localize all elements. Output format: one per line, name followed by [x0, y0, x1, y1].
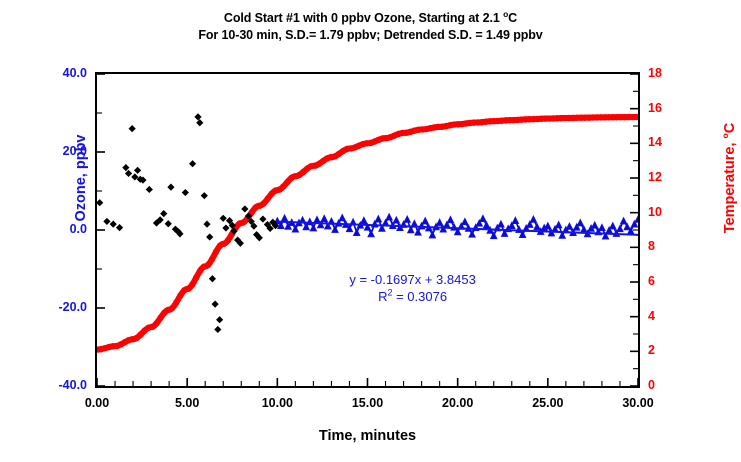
temperature-marker — [225, 237, 231, 243]
y-left-tick-label-1: 20.0 — [25, 144, 87, 158]
x-tick-label-1: 5.00 — [157, 396, 217, 410]
ozone-early-marker — [165, 220, 172, 227]
y-right-tick-label-6: 6 — [648, 274, 688, 288]
ozone-late-marker — [544, 222, 551, 229]
y-left-tick-label-4: -40.0 — [25, 378, 87, 392]
ozone-early-marker — [146, 186, 153, 193]
y-right-tick-label-4: 10 — [648, 205, 688, 219]
r2-value: = 0.3076 — [392, 289, 447, 304]
y-right-unit: C — [722, 123, 738, 133]
temperature-marker — [169, 305, 175, 311]
ozone-late-marker — [480, 215, 487, 222]
ozone-late-marker — [447, 216, 454, 223]
temperature-marker — [177, 292, 183, 298]
ozone-late-marker — [436, 219, 443, 226]
chart-title-line-1: Cold Start #1 with 0 ppbv Ozone, Startin… — [0, 10, 741, 27]
y-right-tick-label-3: 12 — [648, 170, 688, 184]
y-axis-left-label: Ozone, ppbv — [73, 93, 89, 263]
temperature-marker — [189, 281, 195, 287]
x-tick-label-5: 25.00 — [518, 396, 578, 410]
ozone-late-marker — [386, 213, 393, 220]
ozone-late-marker — [375, 215, 382, 222]
ozone-late-marker — [512, 217, 519, 224]
y-axis-right-label: Temperature, oC — [722, 88, 738, 268]
chart-title: Cold Start #1 with 0 ppbv Ozone, Startin… — [0, 10, 741, 44]
ozone-late-marker — [620, 217, 627, 224]
y-right-tick-label-7: 4 — [648, 309, 688, 323]
y-right-tick-label-9: 0 — [648, 378, 688, 392]
ozone-late-marker — [581, 226, 588, 233]
y-left-tick-label-3: -20.0 — [25, 300, 87, 314]
chart-figure: Cold Start #1 with 0 ppbv Ozone, Startin… — [0, 0, 741, 462]
x-tick-label-3: 15.00 — [338, 396, 398, 410]
ozone-late-marker — [339, 214, 346, 221]
temperature-marker — [209, 256, 215, 262]
ozone-early-marker — [194, 113, 201, 120]
temperature-marker — [205, 262, 211, 268]
y-left-tick-label-0: 40.0 — [25, 66, 87, 80]
ozone-late-marker — [422, 217, 429, 224]
ozone-late-marker — [429, 231, 436, 238]
ozone-late-marker — [635, 216, 638, 223]
ozone-early-marker — [201, 192, 208, 199]
ozone-late-marker — [599, 224, 606, 231]
ozone-late-marker — [516, 226, 523, 233]
y-right-tick-label-5: 8 — [648, 239, 688, 253]
ozone-late-marker — [577, 219, 584, 226]
plot-area — [95, 72, 640, 388]
ozone-late-marker — [461, 218, 468, 225]
ozone-early-marker — [189, 160, 196, 167]
ozone-late-marker — [617, 225, 624, 232]
ozone-early-marker — [167, 184, 174, 191]
temperature-marker — [153, 320, 159, 326]
ozone-late-marker — [498, 220, 505, 227]
y-right-tick-label-2: 14 — [648, 135, 688, 149]
title-text-1b: C — [508, 11, 517, 25]
ozone-early-marker — [209, 275, 216, 282]
ozone-late-marker — [360, 217, 367, 224]
y-right-tick-label-1: 16 — [648, 101, 688, 115]
ozone-late-marker — [281, 215, 288, 222]
degree-symbol-icon: o — [720, 133, 730, 138]
x-tick-label-4: 20.00 — [428, 396, 488, 410]
temperature-marker — [173, 299, 179, 305]
ozone-late-marker — [321, 215, 328, 222]
x-axis-label: Time, minutes — [95, 428, 640, 444]
ozone-early-marker — [203, 221, 210, 228]
ozone-early-marker — [110, 221, 117, 228]
ozone-early-marker — [103, 218, 110, 225]
ozone-late-marker — [310, 224, 317, 231]
ozone-late-marker — [451, 223, 458, 230]
ozone-late-marker — [591, 222, 598, 229]
y-right-tick-label-8: 2 — [648, 343, 688, 357]
y-right-text: Temperature, — [722, 138, 738, 233]
ozone-late-marker — [404, 216, 411, 223]
ozone-late-marker — [415, 229, 422, 236]
ozone-late-marker — [332, 226, 339, 233]
ozone-early-marker — [160, 210, 167, 217]
temperature-marker — [193, 274, 199, 280]
ozone-early-marker — [97, 199, 103, 206]
ozone-early-marker — [220, 215, 227, 222]
temperature-marker — [157, 315, 163, 321]
ozone-early-marker — [129, 125, 136, 132]
ozone-late-marker — [534, 223, 541, 230]
plot-svg — [97, 74, 638, 386]
ozone-late-marker — [555, 221, 562, 228]
ozone-early-marker — [134, 167, 141, 174]
ozone-early-marker — [206, 233, 213, 240]
x-tick-label-6: 30.00 — [608, 396, 668, 410]
ozone-late-marker — [292, 225, 299, 232]
ozone-late-marker — [483, 222, 490, 229]
ozone-early-marker — [214, 326, 221, 333]
temperature-marker — [213, 249, 219, 255]
ozone-late-marker — [566, 223, 573, 230]
x-tick-label-2: 10.00 — [247, 396, 307, 410]
ozone-late-marker — [609, 222, 616, 229]
ozone-early-marker — [216, 316, 223, 323]
chart-title-line-2: For 10-30 min, S.D.= 1.79 ppbv; Detrende… — [0, 27, 741, 44]
ozone-early-marker — [222, 224, 229, 231]
y-right-tick-label-0: 18 — [648, 66, 688, 80]
temperature-marker — [264, 196, 270, 202]
y-left-tick-label-2: 0.0 — [25, 222, 87, 236]
ozone-early-marker — [212, 301, 219, 308]
ozone-early-marker — [196, 119, 203, 126]
r-squared-annotation: R2 = 0.3076 — [313, 289, 513, 304]
regression-equation-annotation: y = -0.1697x + 3.8453 — [313, 272, 513, 287]
ozone-early-marker — [259, 215, 266, 222]
ozone-late-marker — [368, 230, 375, 237]
x-tick-label-0: 0.00 — [67, 396, 127, 410]
ozone-late-marker — [314, 216, 321, 223]
ozone-late-marker — [530, 216, 537, 223]
ozone-early-marker — [182, 189, 189, 196]
ozone-late-marker — [353, 229, 360, 236]
ozone-early-marker — [241, 205, 248, 212]
title-text-1: Cold Start #1 with 0 ppbv Ozone, Startin… — [224, 11, 503, 25]
ozone-late-marker — [393, 216, 400, 223]
ozone-early-marker — [116, 224, 123, 231]
